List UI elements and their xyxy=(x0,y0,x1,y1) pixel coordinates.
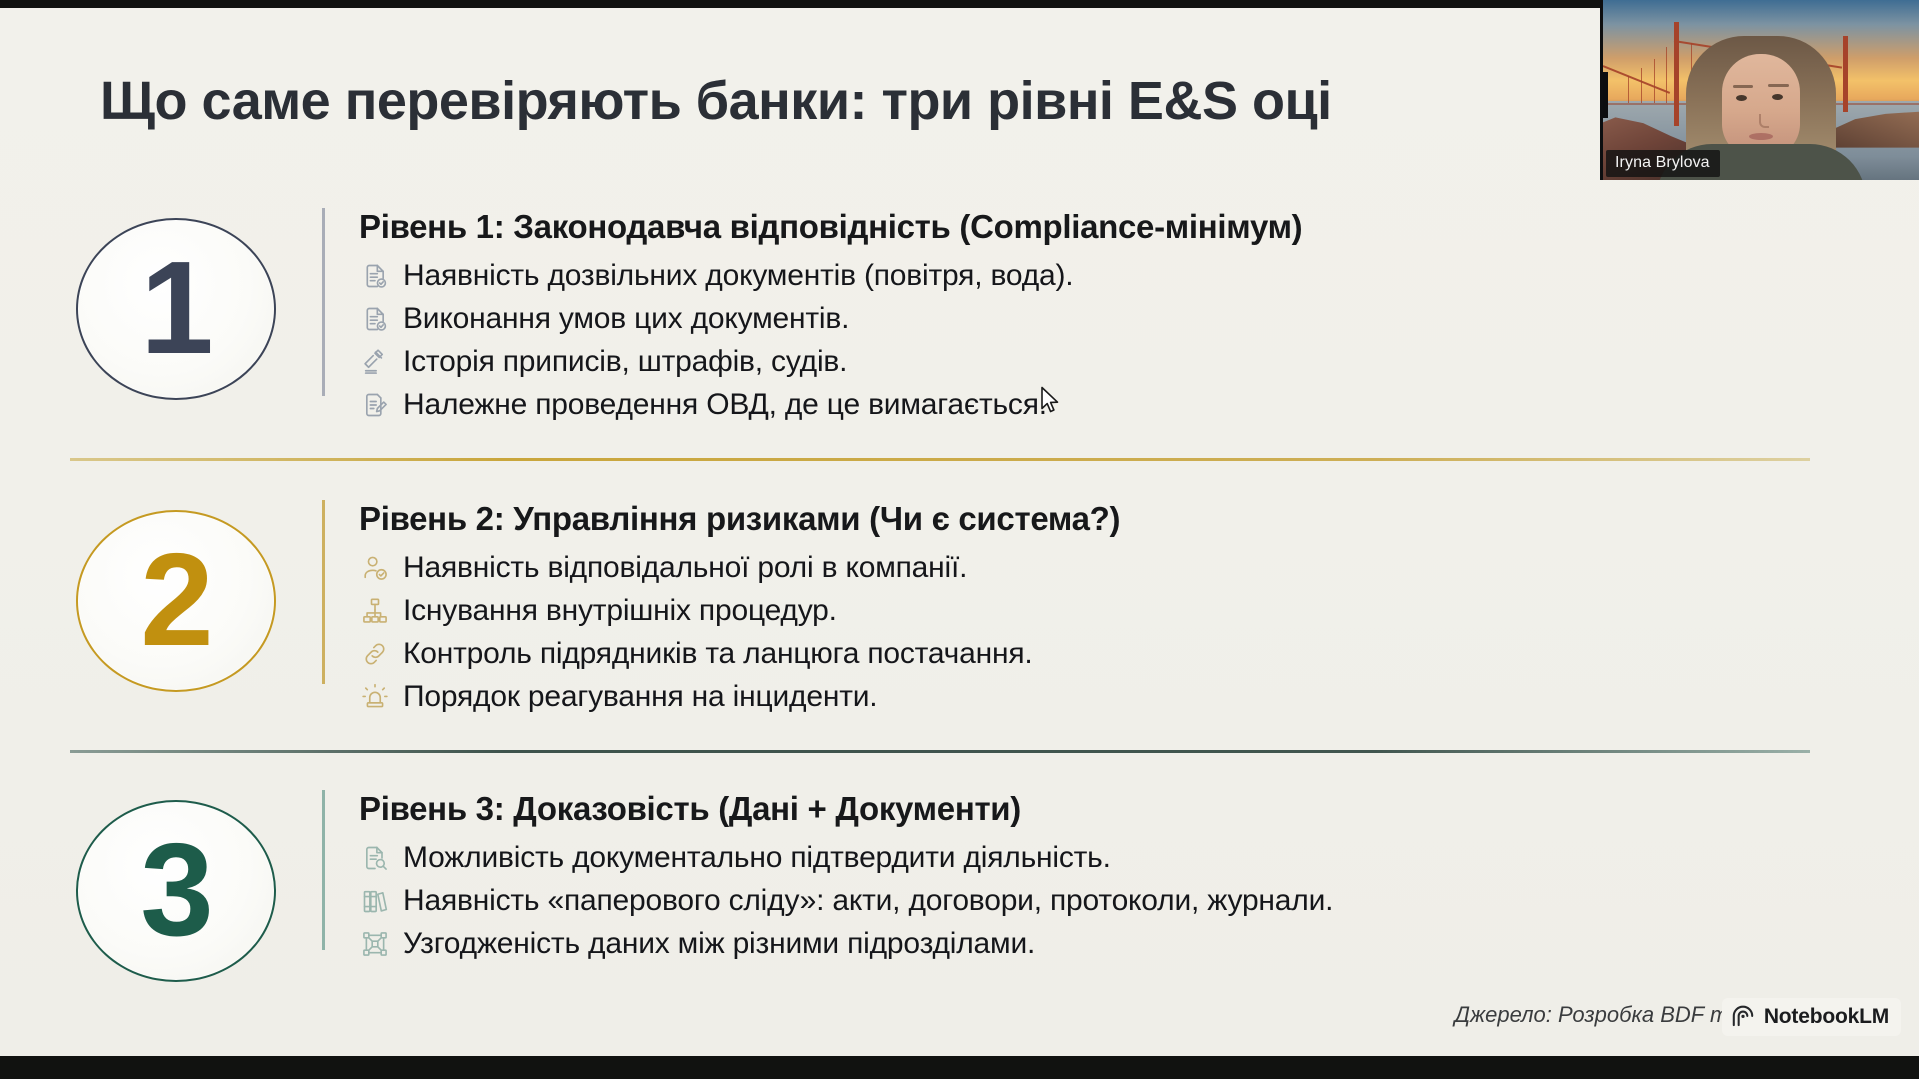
siren-icon xyxy=(359,681,391,713)
bridge-hanger xyxy=(1641,68,1642,102)
list-item: Порядок реагування на інциденти. xyxy=(359,675,1840,718)
list-item: Виконання умов цих документів. xyxy=(359,297,1840,340)
list-item-label: Належне проведення ОВД, де це вимагаєтьс… xyxy=(403,383,1047,426)
list-item-label: Порядок реагування на інциденти. xyxy=(403,675,877,718)
video-participant-tile[interactable]: Iryna Brylova xyxy=(1600,0,1919,180)
books-icon xyxy=(359,885,391,917)
level-heading-2: Рівень 2: Управління ризиками (Чи є сист… xyxy=(359,500,1840,538)
level-number-badge-2: 2 xyxy=(70,510,282,690)
level-heading-1: Рівень 1: Законодавча відповідність (Com… xyxy=(359,208,1840,246)
section-divider-2 xyxy=(70,750,1810,753)
eyebrow-right xyxy=(1768,84,1789,87)
mouth xyxy=(1749,133,1773,140)
list-item-label: Існування внутрішніх процедур. xyxy=(403,589,837,632)
list-item: Наявність дозвільних документів (повітря… xyxy=(359,254,1840,297)
list-item: Історія приписів, штрафів, судів. xyxy=(359,340,1840,383)
bridge-hanger xyxy=(1628,76,1629,103)
document-check-icon xyxy=(359,303,391,335)
list-item: Наявність «паперового сліду»: акти, дого… xyxy=(359,879,1840,922)
network-nodes-icon xyxy=(359,928,391,960)
eyebrow-left xyxy=(1733,85,1753,88)
list-item-label: Виконання умов цих документів. xyxy=(403,297,849,340)
document-search-icon xyxy=(359,842,391,874)
list-item: Наявність відповідальної ролі в компанії… xyxy=(359,546,1840,589)
bridge-hanger xyxy=(1654,59,1655,102)
level-item-list-1: Наявність дозвільних документів (повітря… xyxy=(359,254,1840,426)
list-item-label: Контроль підрядників та ланцюга постачан… xyxy=(403,632,1033,675)
level-number-3: 3 xyxy=(70,800,282,980)
level-number-badge-1: 1 xyxy=(70,218,282,398)
nose xyxy=(1759,114,1769,128)
eye-left xyxy=(1736,95,1747,101)
notebooklm-icon xyxy=(1730,1004,1756,1030)
notebooklm-label: NotebookLM xyxy=(1764,1005,1889,1029)
gavel-icon xyxy=(359,346,391,378)
document-edit-icon xyxy=(359,389,391,421)
level-heading-3: Рівень 3: Доказовість (Дані + Документи) xyxy=(359,790,1840,828)
list-item-label: Наявність дозвільних документів (повітря… xyxy=(403,254,1073,297)
list-item: Існування внутрішніх процедур. xyxy=(359,589,1840,632)
list-item: Контроль підрядників та ланцюга постачан… xyxy=(359,632,1840,675)
eye-right xyxy=(1772,94,1783,100)
section-divider-1 xyxy=(70,458,1810,461)
document-check-icon xyxy=(359,260,391,292)
participant-name-label: Iryna Brylova xyxy=(1606,150,1720,177)
list-item: Можливість документально підтвердити дія… xyxy=(359,836,1840,879)
user-check-icon xyxy=(359,552,391,584)
bridge-hanger xyxy=(1666,47,1667,103)
list-item: Узгодженість даних між різними підрозділ… xyxy=(359,922,1840,965)
list-item-label: Можливість документально підтвердити дія… xyxy=(403,836,1111,879)
list-item-label: Узгодженість даних між різними підрозділ… xyxy=(403,922,1035,965)
list-item-label: Наявність «паперового сліду»: акти, дого… xyxy=(403,879,1333,922)
level-number-badge-3: 3 xyxy=(70,800,282,980)
mouse-pointer-icon xyxy=(1040,386,1062,416)
list-item: Належне проведення ОВД, де це вимагаєтьс… xyxy=(359,383,1840,426)
level-item-list-3: Можливість документально підтвердити дія… xyxy=(359,836,1840,965)
chain-link-icon xyxy=(359,638,391,670)
level-item-list-2: Наявність відповідальної ролі в компанії… xyxy=(359,546,1840,718)
bridge-tower-left-icon xyxy=(1674,22,1679,126)
tile-edge-marker xyxy=(1603,72,1608,118)
screen: Що саме перевіряють банки: три рівні E&S… xyxy=(0,0,1919,1079)
list-item-label: Наявність відповідальної ролі в компанії… xyxy=(403,546,967,589)
level-number-1: 1 xyxy=(70,218,282,398)
org-chart-icon xyxy=(359,595,391,627)
face xyxy=(1722,54,1800,158)
list-item-label: Історія приписів, штрафів, судів. xyxy=(403,340,847,383)
bridge-tower-right-icon xyxy=(1843,36,1848,112)
notebooklm-badge[interactable]: NotebookLM xyxy=(1722,998,1901,1036)
page-title: Що саме перевіряють банки: три рівні E&S… xyxy=(100,70,1332,132)
level-number-2: 2 xyxy=(70,510,282,690)
